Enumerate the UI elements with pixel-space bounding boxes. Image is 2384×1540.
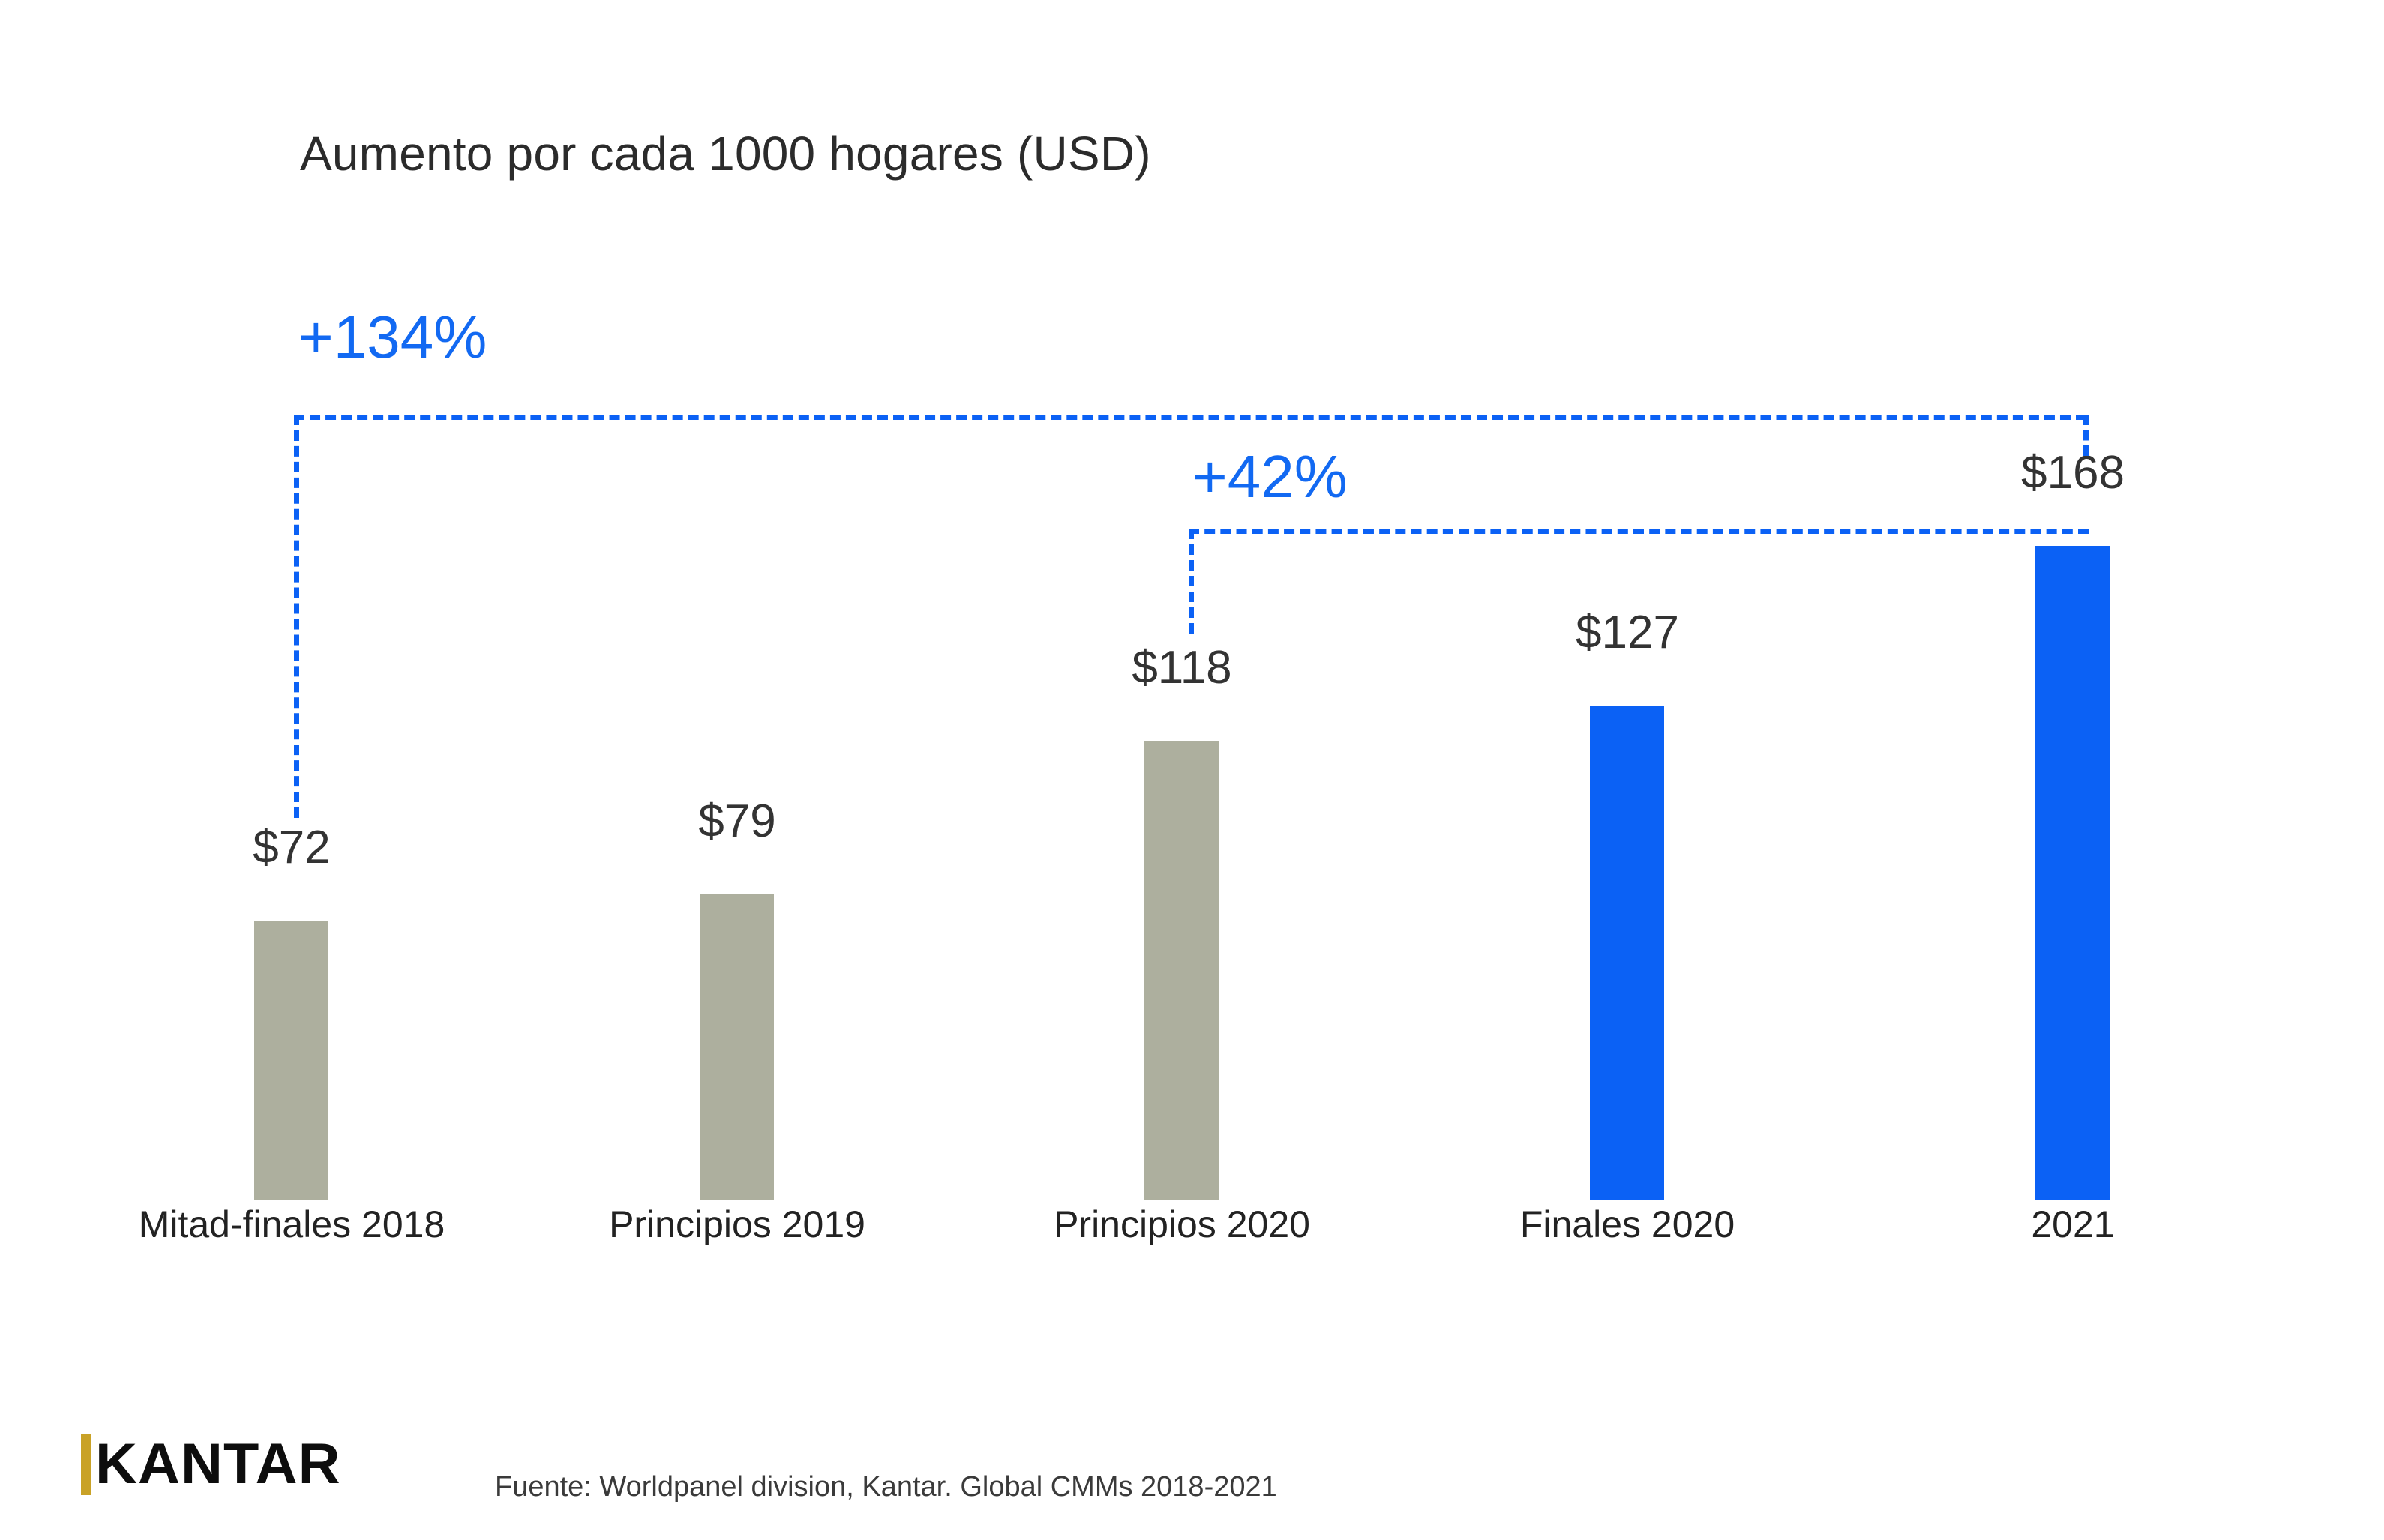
bar-value-label-1: $72 <box>217 821 367 874</box>
bracket-42-left-vertical <box>1189 529 1194 634</box>
bar-finales-2020 <box>1590 706 1664 1200</box>
bar-principios-2020 <box>1144 741 1219 1200</box>
kantar-wordmark: KANTAR <box>95 1434 341 1495</box>
annotation-growth-recent: +42% <box>1192 442 1348 511</box>
bracket-134-right-vertical <box>2083 415 2089 456</box>
bracket-134-horizontal <box>294 415 2086 420</box>
source-note: Fuente: Worldpanel division, Kantar. Glo… <box>495 1471 1277 1503</box>
category-label-5: 2021 <box>1885 1203 2260 1246</box>
category-label-3: Principios 2020 <box>994 1203 1369 1246</box>
category-label-2: Principios 2019 <box>550 1203 925 1246</box>
kantar-logo: KANTAR <box>81 1432 336 1497</box>
bar-value-label-4: $127 <box>1552 606 1702 659</box>
bar-2021 <box>2035 546 2110 1200</box>
bar-principios-2019 <box>700 894 774 1200</box>
bar-value-label-5: $168 <box>1998 446 2148 499</box>
bar-value-label-2: $79 <box>662 795 812 848</box>
category-label-4: Finales 2020 <box>1440 1203 1815 1246</box>
category-label-1: Mitad-finales 2018 <box>104 1203 479 1246</box>
plot-area: $72 Mitad-finales 2018 $79 Principios 20… <box>0 0 2384 1200</box>
bracket-42-horizontal <box>1189 529 2089 534</box>
annotation-growth-total: +134% <box>298 303 487 372</box>
bar-mitad-finales-2018 <box>254 921 328 1200</box>
kantar-gold-bar-icon <box>81 1434 91 1495</box>
bracket-134-left-vertical <box>294 415 299 818</box>
chart-canvas: Aumento por cada 1000 hogares (USD) $72 … <box>0 0 2384 1540</box>
bar-value-label-3: $118 <box>1107 641 1257 694</box>
